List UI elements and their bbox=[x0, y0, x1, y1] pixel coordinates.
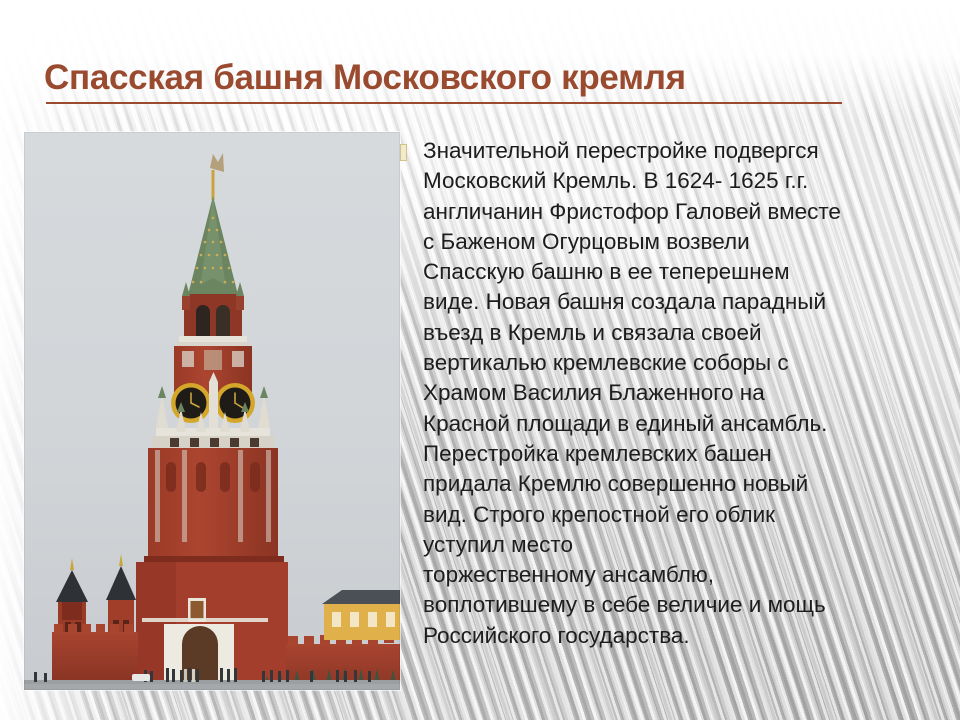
red-square-pavement bbox=[24, 680, 400, 690]
presentation-slide: Спасская башня Московского кремля bbox=[0, 0, 960, 720]
title-underline bbox=[46, 102, 842, 104]
tower-main-body bbox=[144, 448, 284, 564]
tower-belfry bbox=[176, 278, 250, 347]
white-car bbox=[132, 674, 150, 681]
photo-illustration bbox=[24, 132, 400, 690]
square-bullet-icon bbox=[400, 144, 407, 161]
spasskaya-tower-photo bbox=[24, 132, 400, 690]
body-paragraph: Значительной перестройке подвергся Моско… bbox=[423, 136, 948, 651]
tower-lower-block bbox=[136, 562, 288, 680]
yellow-building bbox=[322, 590, 400, 640]
content-bullet-list: Значительной перестройке подвергся Моско… bbox=[400, 136, 948, 651]
slide-title: Спасская башня Московского кремля bbox=[44, 58, 924, 98]
